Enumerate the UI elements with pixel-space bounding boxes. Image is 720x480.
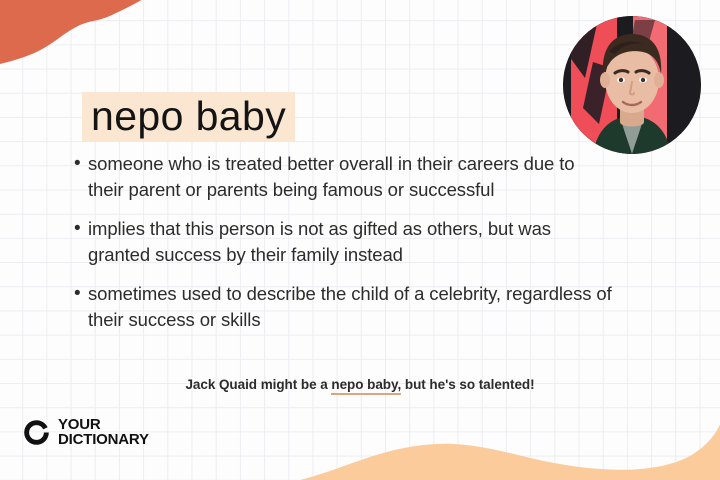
peach-wave-decoration [226,402,720,480]
definition-text: someone who is treated better overall in… [88,151,614,202]
example-highlighted-term: nepo baby, [331,377,401,395]
nepo-baby-definition-card: nepo baby • someone who is treated bette… [0,0,720,480]
example-after: but he's so talented! [401,377,534,392]
bullet-icon: • [74,281,88,306]
yourdictionary-logo[interactable]: YOUR DICTIONARY [23,418,149,447]
definition-list: • someone who is treated better overall … [74,151,614,346]
page-title: nepo baby [82,92,295,142]
headword-container: nepo baby [82,92,295,142]
definition-text: sometimes used to describe the child of … [88,281,614,332]
logo-wordmark: YOUR DICTIONARY [58,418,149,447]
portrait-illustration [563,16,701,154]
bullet-icon: • [74,151,88,176]
yourdictionary-ring-icon [23,419,50,446]
definition-text: implies that this person is not as gifte… [88,216,614,267]
bullet-icon: • [74,216,88,241]
coral-blob-decoration [0,0,166,72]
example-before: Jack Quaid might be a [185,377,331,392]
list-item: • implies that this person is not as gif… [74,216,614,267]
logo-line-2: DICTIONARY [58,433,149,448]
portrait-avatar [563,16,701,154]
list-item: • sometimes used to describe the child o… [74,281,614,332]
list-item: • someone who is treated better overall … [74,151,614,202]
example-sentence: Jack Quaid might be a nepo baby, but he'… [0,377,720,392]
